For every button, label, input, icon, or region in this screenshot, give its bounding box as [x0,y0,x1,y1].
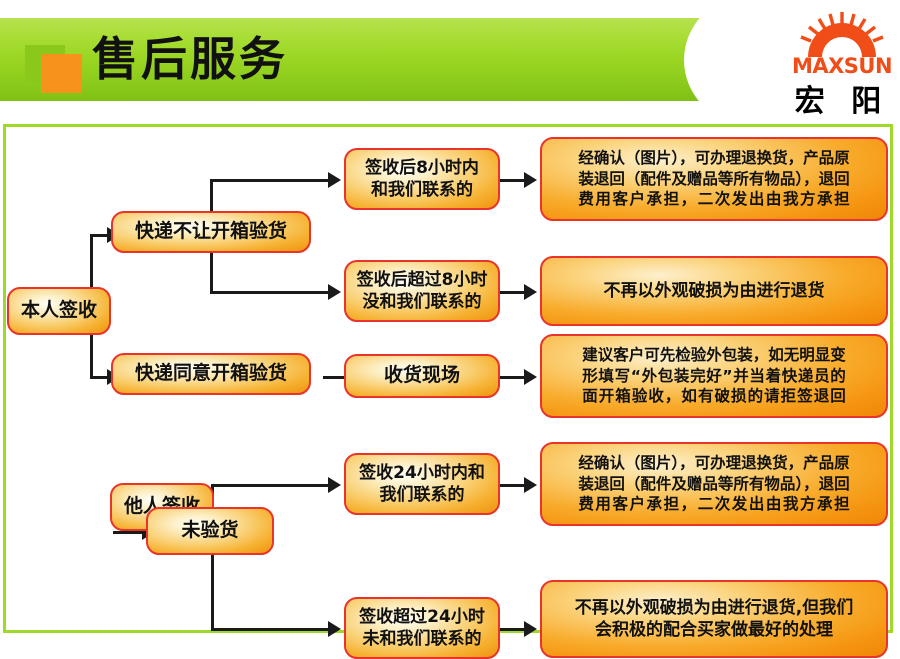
result-text-line: 经确认（图片），可办理退换货，产品原 [578,453,849,473]
connector-line [211,484,328,487]
result-no-appearance-return-cooperate[interactable]: 不再以外观破损为由进行退货,但我们 会积极的配合买家做最好的处理 [540,580,888,658]
result-text-line: 经确认（图片），可办理退换货，产品原 [578,148,849,168]
connector-line [500,484,524,487]
connector-line [500,628,524,631]
connector-arrow-icon [524,621,537,637]
result-text-line: 会积极的配合买家做最好的处理 [575,619,853,641]
sun-rays-icon [792,12,892,58]
node-label-line: 签收后8小时内 [365,157,479,179]
result-text: 经确认（图片），可办理退换货，产品原 装退回（配件及赠品等所有物品），退回 费用… [569,453,858,514]
connector-arrow-icon [328,477,341,493]
node-label: 签收后超过8小时 没和我们联系的 [348,269,497,314]
node-label-line: 签收超过24小时 [359,606,485,628]
result-inspect-advice[interactable]: 建议客户可先检验外包装，如无明显变 形填写“外包装完好”并当着快递员的 面开箱验… [540,334,888,418]
connector-line [500,179,524,182]
header-banner: 售后服务 [0,18,760,101]
brand-name-latin: MAXSUN [786,54,898,78]
node-not-inspected[interactable]: 未验货 [146,507,274,555]
banner-notch-shape [684,18,760,101]
node-over-24h[interactable]: 签收超过24小时 未和我们联系的 [344,597,500,659]
node-label-line: 签收24小时内和 [359,462,485,484]
connector-arrow-icon [524,369,537,385]
node-label: 快递不让开箱验货 [126,219,296,244]
result-text: 不再以外观破损为由进行退货,但我们 会积极的配合买家做最好的处理 [566,597,862,642]
connector-line [500,291,524,294]
decor-square-orange-icon [41,54,82,93]
node-within-8h[interactable]: 签收后8小时内 和我们联系的 [344,148,500,210]
node-label: 签收24小时内和 我们联系的 [350,462,494,507]
node-label: 快递同意开箱验货 [126,361,296,386]
result-text-line: 装退回（配件及赠品等所有物品），退回 [578,169,849,189]
result-text-line: 建议客户可先检验外包装，如无明显变 [582,345,846,365]
node-label: 收货现场 [375,363,469,388]
connector-arrow-icon [524,284,537,300]
result-text-line: 面开箱验收，如有破损的请拒签退回 [582,386,846,406]
node-self-sign[interactable]: 本人签收 [7,287,111,335]
node-label-line: 我们联系的 [359,484,485,506]
node-label-line: 未和我们联系的 [359,628,485,650]
node-label: 本人签收 [12,298,106,323]
node-label: 签收后8小时内 和我们联系的 [356,157,488,202]
result-no-appearance-return[interactable]: 不再以外观破损为由进行退货 [540,256,888,326]
node-receive-scene[interactable]: 收货现场 [344,354,500,398]
result-text-line: 形填写“外包装完好”并当着快递员的 [582,366,846,386]
connector-arrow-icon [328,284,341,300]
node-label: 签收超过24小时 未和我们联系的 [350,606,494,651]
connector-line [211,628,328,631]
result-text: 不再以外观破损为由进行退货 [595,280,834,302]
node-courier-allow-open[interactable]: 快递同意开箱验货 [111,353,311,395]
connector-arrow-icon [328,621,341,637]
result-confirm-return-top[interactable]: 经确认（图片），可办理退换货，产品原 装退回（配件及赠品等所有物品），退回 费用… [540,137,888,221]
node-label-line: 没和我们联系的 [357,291,488,313]
brand-logo: MAXSUN 宏 阳 [786,10,898,118]
connector-line [90,234,107,237]
result-text-line: 不再以外观破损为由进行退货,但我们 [575,597,853,619]
connector-arrow-icon [524,477,537,493]
result-text-line: 装退回（配件及赠品等所有物品），退回 [578,474,849,494]
page-title: 售后服务 [92,26,288,92]
result-text-line: 费用客户承担，二次发出由我方承担 [578,494,849,514]
result-confirm-return-bottom[interactable]: 经确认（图片），可办理退换货，产品原 装退回（配件及赠品等所有物品），退回 费用… [540,442,888,526]
node-over-8h[interactable]: 签收后超过8小时 没和我们联系的 [344,260,500,322]
node-courier-no-open[interactable]: 快递不让开箱验货 [111,211,311,253]
connector-line [113,531,142,534]
result-text-line: 费用客户承担，二次发出由我方承担 [578,189,849,209]
node-within-24h[interactable]: 签收24小时内和 我们联系的 [344,453,500,515]
connector-line [210,179,328,182]
connector-line [210,291,328,294]
node-label-line: 和我们联系的 [365,179,479,201]
connector-line [323,376,345,379]
page-header: 售后服务 MAXSUN 宏 阳 [0,0,900,118]
connector-arrow-icon [328,172,341,188]
flowchart-frame: 本人签收 他人签收 快递不让开箱验货 快递同意开箱验货 未验货 签收后8小时内 … [3,124,893,633]
brand-name-cn: 宏 阳 [786,76,898,120]
result-text: 经确认（图片），可办理退换货，产品原 装退回（配件及赠品等所有物品），退回 费用… [569,148,858,209]
node-label: 未验货 [172,518,247,543]
connector-line [90,376,107,379]
result-text: 建议客户可先检验外包装，如无明显变 形填写“外包装完好”并当着快递员的 面开箱验… [573,345,855,406]
connector-arrow-icon [524,172,537,188]
node-label-line: 签收后超过8小时 [357,269,488,291]
connector-line [500,376,524,379]
